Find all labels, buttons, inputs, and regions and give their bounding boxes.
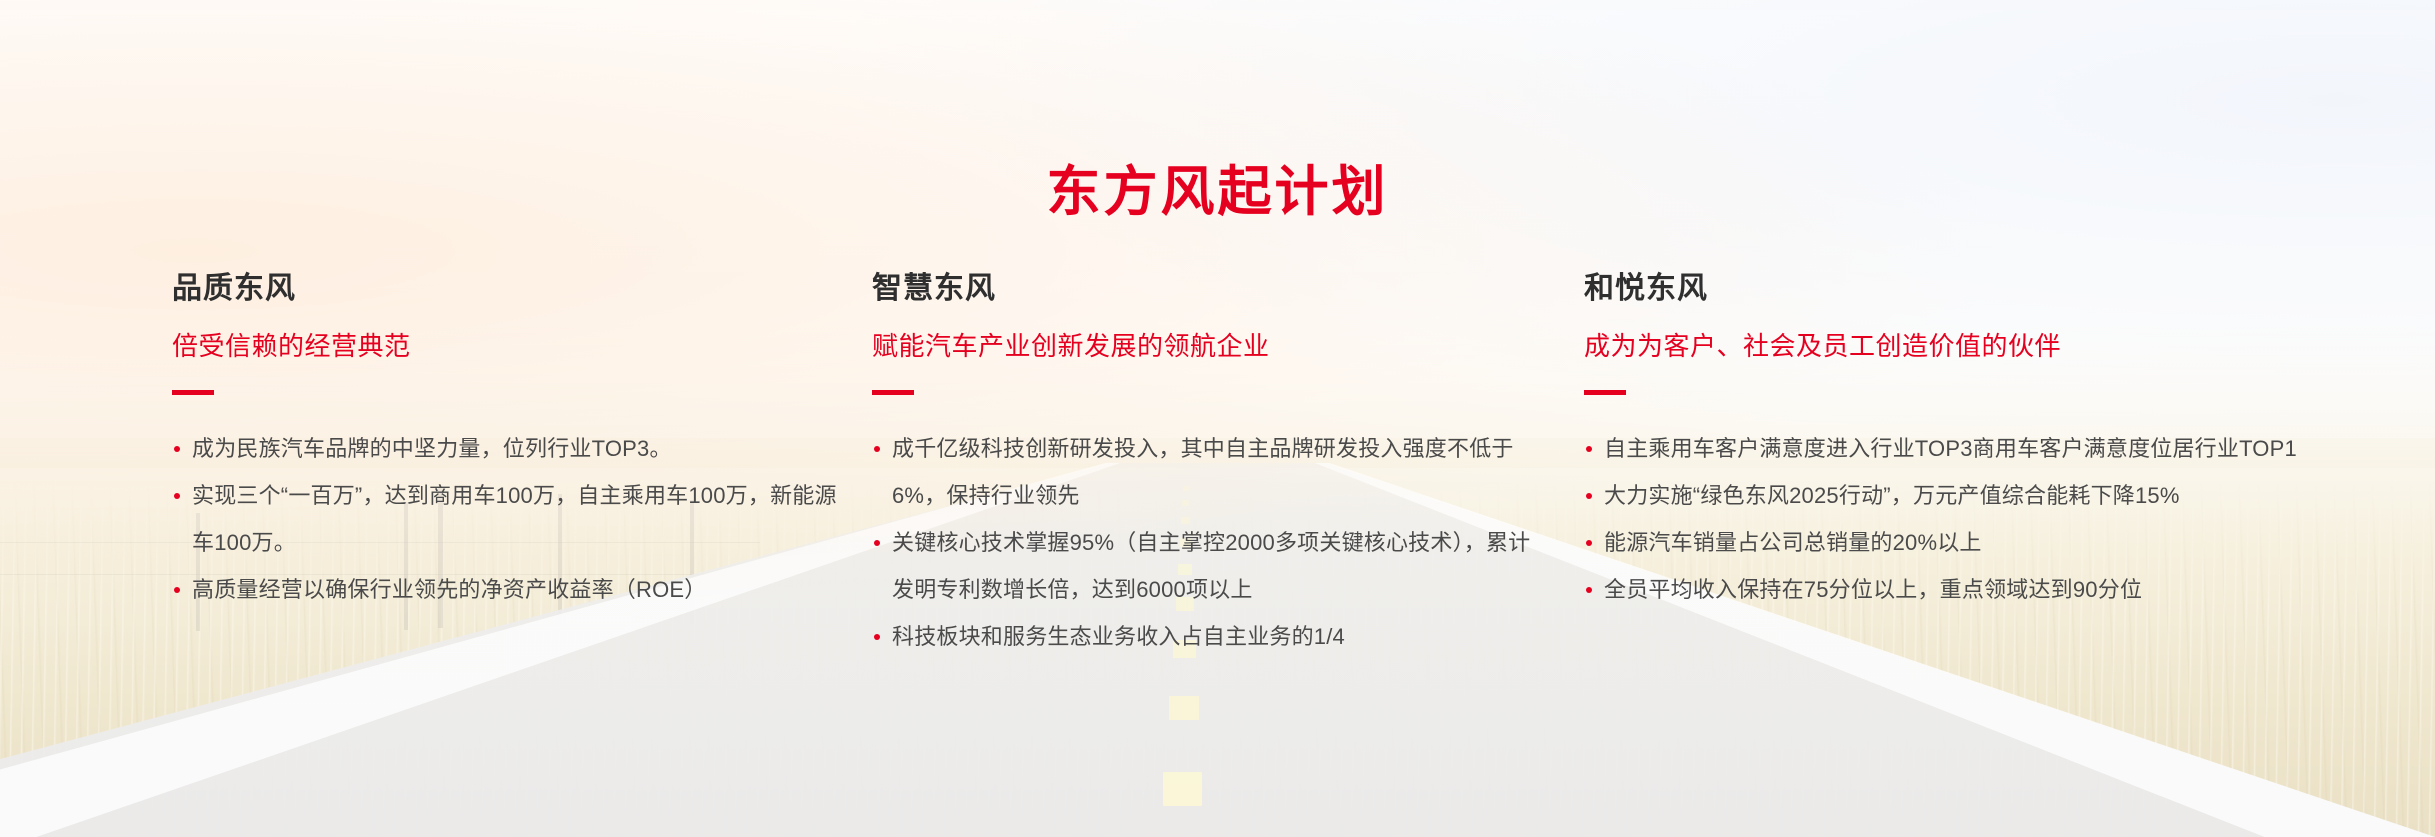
list-item-text: 关键核心技术掌握95%（自主掌控2000多项关键核心技术），累计发明专利数增长倍… bbox=[892, 530, 1530, 602]
pillar-column-1: 品质东风 倍受信赖的经营典范 成为民族汽车品牌的中坚力量，位列行业TOP3。 实… bbox=[172, 272, 852, 676]
list-item: 成千亿级科技创新研发投入，其中自主品牌研发投入强度不低于6%，保持行业领先 bbox=[872, 425, 1552, 519]
pillar-subtitle: 倍受信赖的经营典范 bbox=[172, 331, 852, 362]
pillar-subtitle: 成为为客户、社会及员工创造价值的伙伴 bbox=[1584, 331, 2384, 362]
list-item-text: 高质量经营以确保行业领先的净资产收益率（ROE） bbox=[192, 577, 706, 602]
pillar-bullet-list: 成千亿级科技创新研发投入，其中自主品牌研发投入强度不低于6%，保持行业领先 关键… bbox=[872, 425, 1552, 660]
bullet-dot-icon bbox=[1586, 540, 1592, 546]
pillar-columns: 品质东风 倍受信赖的经营典范 成为民族汽车品牌的中坚力量，位列行业TOP3。 实… bbox=[0, 272, 2435, 676]
pillar-title: 品质东风 bbox=[172, 272, 852, 305]
accent-rule bbox=[872, 390, 914, 395]
pillar-bullet-list: 成为民族汽车品牌的中坚力量，位列行业TOP3。 实现三个“一百万”，达到商用车1… bbox=[172, 425, 852, 613]
page-title: 东方风起计划 bbox=[0, 164, 2435, 221]
bullet-dot-icon bbox=[874, 634, 880, 640]
list-item-text: 大力实施“绿色东风2025行动”，万元产值综合能耗下降15% bbox=[1604, 483, 2180, 508]
list-item: 关键核心技术掌握95%（自主掌控2000多项关键核心技术），累计发明专利数增长倍… bbox=[872, 519, 1552, 613]
bullet-dot-icon bbox=[174, 493, 180, 499]
list-item-text: 能源汽车销量占公司总销量的20%以上 bbox=[1604, 530, 1982, 555]
list-item-text: 自主乘用车客户满意度进入行业TOP3商用车客户满意度位居行业TOP1 bbox=[1604, 436, 2297, 461]
bullet-dot-icon bbox=[874, 540, 880, 546]
bullet-dot-icon bbox=[874, 446, 880, 452]
list-item: 全员平均收入保持在75分位以上，重点领域达到90分位 bbox=[1584, 566, 2384, 613]
bullet-dot-icon bbox=[1586, 446, 1592, 452]
bullet-dot-icon bbox=[174, 446, 180, 452]
road-dash bbox=[1169, 696, 1199, 720]
bullet-dot-icon bbox=[1586, 493, 1592, 499]
list-item: 自主乘用车客户满意度进入行业TOP3商用车客户满意度位居行业TOP1 bbox=[1584, 425, 2384, 472]
list-item: 高质量经营以确保行业领先的净资产收益率（ROE） bbox=[172, 566, 852, 613]
accent-rule bbox=[172, 390, 214, 395]
pillar-title: 和悦东风 bbox=[1584, 272, 2384, 305]
list-item: 大力实施“绿色东风2025行动”，万元产值综合能耗下降15% bbox=[1584, 472, 2384, 519]
pillar-bullet-list: 自主乘用车客户满意度进入行业TOP3商用车客户满意度位居行业TOP1 大力实施“… bbox=[1584, 425, 2384, 613]
list-item: 成为民族汽车品牌的中坚力量，位列行业TOP3。 bbox=[172, 425, 852, 472]
road-dash bbox=[1163, 772, 1202, 806]
pillar-subtitle: 赋能汽车产业创新发展的领航企业 bbox=[872, 331, 1552, 362]
bullet-dot-icon bbox=[174, 587, 180, 593]
list-item-text: 成为民族汽车品牌的中坚力量，位列行业TOP3。 bbox=[192, 436, 672, 461]
pillar-column-3: 和悦东风 成为为客户、社会及员工创造价值的伙伴 自主乘用车客户满意度进入行业TO… bbox=[1584, 272, 2384, 676]
bullet-dot-icon bbox=[1586, 587, 1592, 593]
list-item: 实现三个“一百万”，达到商用车100万，自主乘用车100万，新能源车100万。 bbox=[172, 472, 852, 566]
pillar-title: 智慧东风 bbox=[872, 272, 1552, 305]
list-item-text: 成千亿级科技创新研发投入，其中自主品牌研发投入强度不低于6%，保持行业领先 bbox=[892, 436, 1514, 508]
list-item: 能源汽车销量占公司总销量的20%以上 bbox=[1584, 519, 2384, 566]
accent-rule bbox=[1584, 390, 1626, 395]
sky-strip bbox=[0, 0, 2435, 10]
slide-canvas: 东方风起计划 品质东风 倍受信赖的经营典范 成为民族汽车品牌的中坚力量，位列行业… bbox=[0, 0, 2435, 837]
list-item-text: 全员平均收入保持在75分位以上，重点领域达到90分位 bbox=[1604, 577, 2142, 602]
list-item: 科技板块和服务生态业务收入占自主业务的1/4 bbox=[872, 613, 1552, 660]
list-item-text: 科技板块和服务生态业务收入占自主业务的1/4 bbox=[892, 624, 1345, 649]
list-item-text: 实现三个“一百万”，达到商用车100万，自主乘用车100万，新能源车100万。 bbox=[192, 483, 837, 555]
pillar-column-2: 智慧东风 赋能汽车产业创新发展的领航企业 成千亿级科技创新研发投入，其中自主品牌… bbox=[872, 272, 1552, 676]
